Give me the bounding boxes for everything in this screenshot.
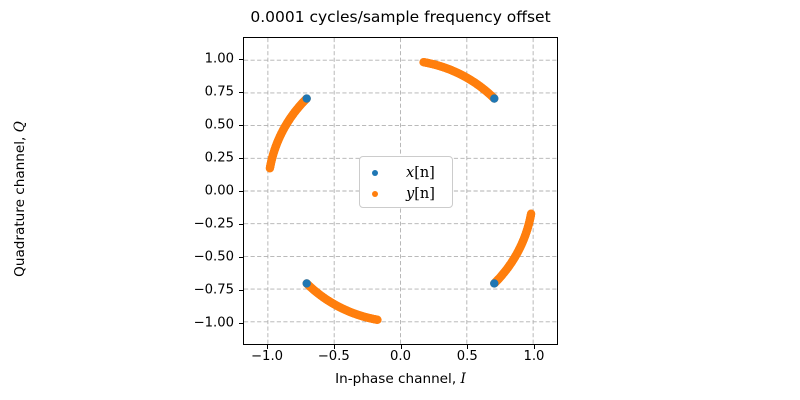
data-point-y [419, 58, 427, 66]
data-point-y [373, 316, 381, 324]
y-tick-mark [239, 323, 243, 324]
x-tick-label: 0.5 [457, 349, 478, 364]
data-point-x [303, 94, 311, 102]
legend-item-x[interactable]: x[n] [360, 162, 452, 183]
legend-label: x[n] [390, 165, 435, 181]
page-title: 0.0001 cycles/sample frequency offset [243, 8, 558, 26]
y-tick-mark [239, 191, 243, 192]
x-axis-label: In-phase channel, I [243, 371, 558, 387]
y-tick-mark [239, 92, 243, 93]
x-axis-label-text: In-phase channel, [335, 371, 460, 387]
y-tick-label: 0.00 [205, 184, 234, 199]
y-tick-mark [239, 59, 243, 60]
y-axis-label-symbol: Q [12, 121, 28, 132]
data-point-y [527, 210, 535, 218]
legend-marker-icon [360, 191, 390, 197]
legend-item-y[interactable]: y[n] [360, 183, 452, 204]
y-tick-mark [239, 290, 243, 291]
y-tick-mark [239, 158, 243, 159]
x-tick-label: −0.5 [318, 349, 350, 364]
legend-marker-icon [360, 170, 390, 176]
data-point-x [490, 94, 498, 102]
y-tick-label: −1.00 [194, 315, 234, 330]
y-tick-mark [239, 257, 243, 258]
legend[interactable]: x[n]y[n] [359, 156, 453, 208]
data-point-x [490, 279, 498, 287]
data-point-x [303, 279, 311, 287]
y-tick-label: 0.50 [205, 118, 234, 133]
y-axis-label: Quadrature channel, Q [12, 45, 28, 353]
y-tick-mark [239, 224, 243, 225]
y-tick-label: 0.25 [205, 151, 234, 166]
y-axis-label-text: Quadrature channel, [12, 132, 28, 277]
x-axis-label-symbol: I [460, 371, 465, 387]
y-tick-label: −0.50 [194, 249, 234, 264]
y-tick-label: 1.00 [205, 52, 234, 67]
y-tick-label: −0.25 [194, 216, 234, 231]
x-tick-label: 0.0 [390, 349, 411, 364]
y-tick-label: 0.75 [205, 85, 234, 100]
legend-label: y[n] [390, 186, 435, 202]
x-tick-label: −1.0 [251, 349, 283, 364]
y-tick-label: −0.75 [194, 282, 234, 297]
x-tick-label: 1.0 [523, 349, 544, 364]
matplotlib-figure: 0.0001 cycles/sample frequency offset −1… [0, 0, 800, 400]
data-point-y [266, 164, 274, 172]
y-tick-mark [239, 125, 243, 126]
